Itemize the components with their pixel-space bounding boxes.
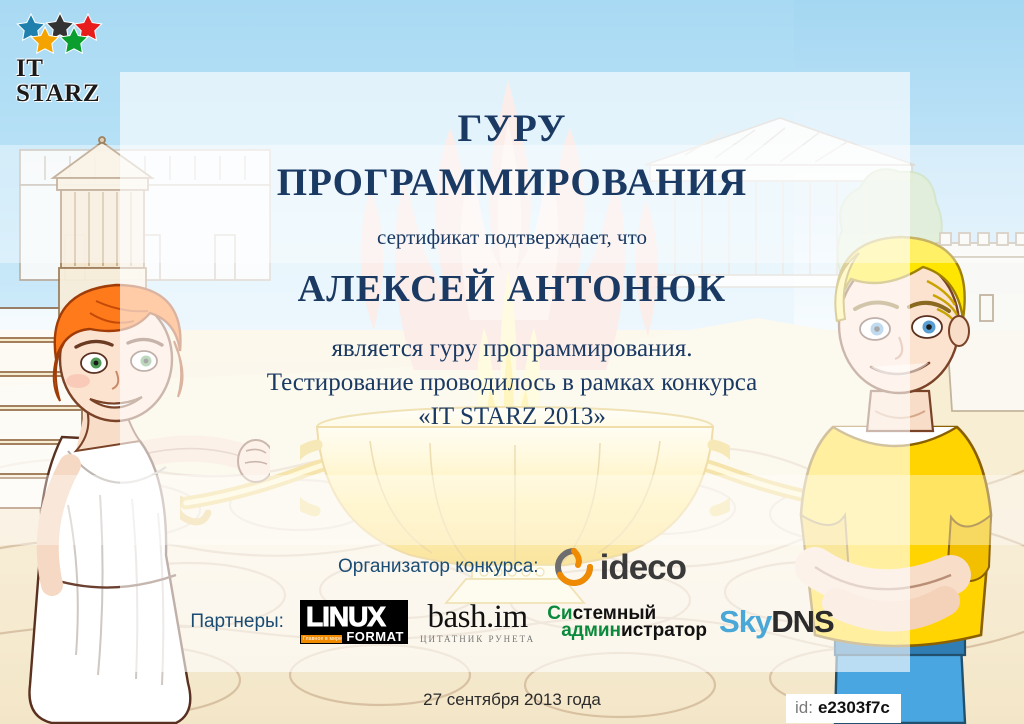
certificate-title-line2: ПРОГРАММИРОВАНИЯ xyxy=(0,160,1024,205)
partners-row: Партнеры: LINUX Главное в мире Linux FOR… xyxy=(0,600,1024,644)
partner-skydns-logo[interactable]: SkyDNS xyxy=(719,604,834,640)
ideco-swirl-icon xyxy=(555,548,593,586)
character-woman-with-torch xyxy=(0,255,270,724)
partner-bash-im-logo[interactable]: bash.im ЦИТАТНИК РУНЕТА xyxy=(420,601,535,644)
organizer-label: Организатор конкурса: xyxy=(338,556,539,578)
certificate-body-line1: является гуру программирования. xyxy=(0,332,1024,366)
linux-format-sub: FORMAT xyxy=(342,629,408,644)
ideco-logo[interactable]: ideco xyxy=(555,548,686,586)
partner-linux-format-logo[interactable]: LINUX Главное в мире Linux FORMAT xyxy=(300,600,408,644)
bash-im-main: bash.im xyxy=(428,601,528,634)
sysadmin-line2: администратор xyxy=(547,622,707,639)
skydns-part1: Sky xyxy=(719,604,771,639)
certificate-body-line2: Тестирование проводилось в рамках конкур… xyxy=(0,366,1024,400)
organizer-row: Организатор конкурса: ideco xyxy=(0,548,1024,586)
recipient-name: АЛЕКСЕЙ АНТОНЮК xyxy=(0,267,1024,311)
certificate-body: является гуру программирования. Тестиров… xyxy=(0,332,1024,434)
certificate-subtitle: сертификат подтверждает, что xyxy=(0,225,1024,250)
partners-label: Партнеры: xyxy=(190,611,284,633)
id-label: id: xyxy=(795,698,813,717)
five-stars-icon xyxy=(14,12,106,54)
bash-im-sub: ЦИТАТНИК РУНЕТА xyxy=(420,635,535,644)
certificate-canvas: IT STARZ ГУРУ ПРОГРАММИРОВАНИЯ сертифика… xyxy=(0,0,1024,724)
certificate-title-line1: ГУРУ xyxy=(0,106,1024,151)
id-value: e2303f7c xyxy=(818,698,890,717)
skydns-part2: DNS xyxy=(771,604,833,639)
id-badge: id:e2303f7c xyxy=(786,694,901,723)
certificate-body-line3: «IT STARZ 2013» xyxy=(0,400,1024,434)
sysadmin-line2-black: истратор xyxy=(621,620,707,641)
logo-wordmark: IT STARZ xyxy=(16,56,114,106)
it-starz-logo[interactable]: IT STARZ xyxy=(14,12,114,106)
sysadmin-line2-green: админ xyxy=(561,620,621,641)
ideco-wordmark: ideco xyxy=(600,550,686,585)
partner-sysadmin-logo[interactable]: Системный администратор xyxy=(547,605,707,640)
